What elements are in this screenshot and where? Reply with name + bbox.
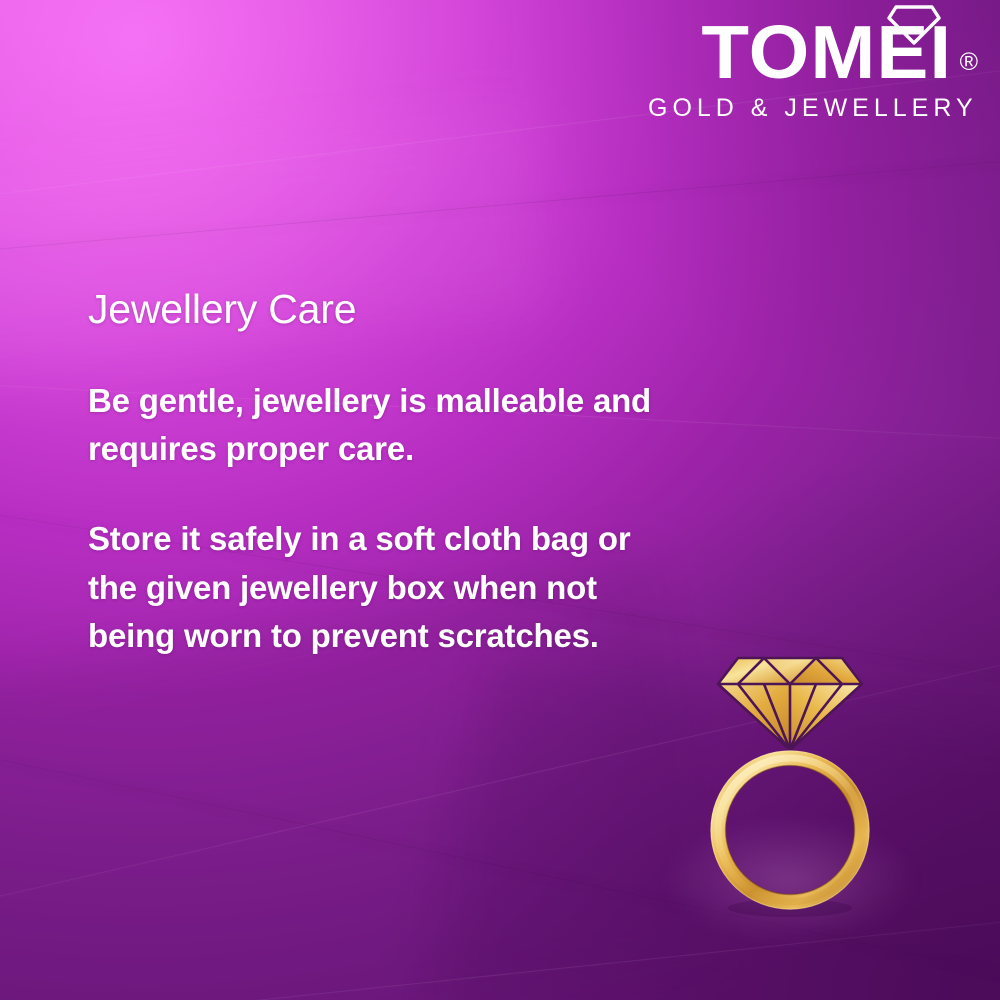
crease-line [0, 108, 1000, 298]
copy-block: Jewellery Care Be gentle, jewellery is m… [88, 286, 668, 660]
body-paragraph-2: Store it safely in a soft cloth bag or t… [88, 515, 668, 660]
ring-vector [690, 640, 890, 930]
tomei-logo[interactable]: TOMEI ® GOLD & JEWELLERY [648, 18, 978, 123]
logo-wordmark-text: TOMEI [702, 18, 953, 87]
diamond-ring-illustration [690, 640, 890, 930]
ring-band-icon [711, 751, 869, 917]
registered-trademark-icon: ® [960, 50, 978, 75]
logo-tagline: GOLD & JEWELLERY [648, 94, 974, 123]
page-title: Jewellery Care [88, 286, 668, 333]
diamond-gem-icon [718, 658, 862, 750]
poster-canvas: TOMEI ® GOLD & JEWELLERY Jewellery Care … [0, 0, 1000, 1000]
logo-wordmark-row: TOMEI ® [648, 18, 978, 87]
body-paragraph-1: Be gentle, jewellery is malleable and re… [88, 377, 668, 473]
